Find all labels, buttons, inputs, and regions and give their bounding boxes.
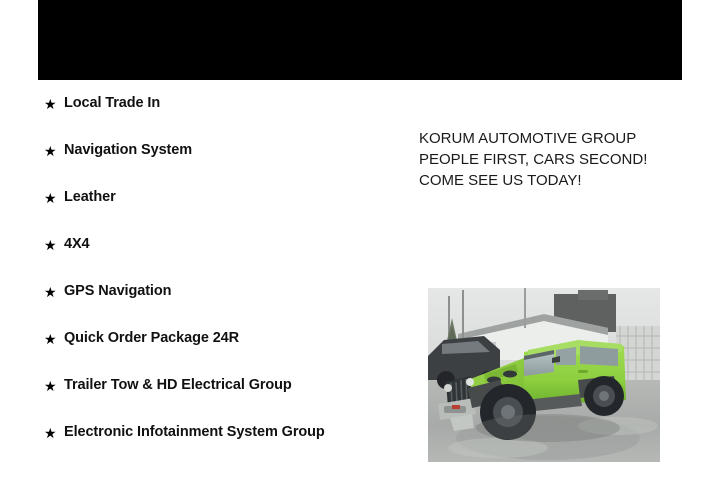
highlight-label: Navigation System xyxy=(64,139,389,161)
star-bullet-icon: ★ xyxy=(44,280,64,303)
list-item: ★ Electronic Infotainment System Group xyxy=(44,421,389,468)
list-item: ★ Quick Order Package 24R xyxy=(44,327,389,374)
dealer-promo-text: KORUM AUTOMOTIVE GROUP PEOPLE FIRST, CAR… xyxy=(419,128,669,191)
highlight-label: Quick Order Package 24R xyxy=(64,327,389,349)
header-banner: Vehicle Highlights xyxy=(38,0,682,80)
promo-line-dealer-name: KORUM AUTOMOTIVE GROUP xyxy=(419,128,669,149)
star-bullet-icon: ★ xyxy=(44,186,64,209)
highlight-label: GPS Navigation xyxy=(64,280,389,302)
highlight-label: Electronic Infotainment System Group xyxy=(64,421,389,443)
green-jeep-illustration xyxy=(428,288,660,462)
highlight-label: Trailer Tow & HD Electrical Group xyxy=(64,374,389,396)
list-item: ★ 4X4 xyxy=(44,233,389,280)
page-title: Vehicle Highlights xyxy=(297,31,423,49)
highlight-label: 4X4 xyxy=(64,233,389,255)
star-bullet-icon: ★ xyxy=(44,92,64,115)
star-bullet-icon: ★ xyxy=(44,233,64,256)
list-item: ★ GPS Navigation xyxy=(44,280,389,327)
list-item: ★ Local Trade In xyxy=(44,92,389,139)
promo-line-slogan: PEOPLE FIRST, CARS SECOND! xyxy=(419,149,669,170)
star-bullet-icon: ★ xyxy=(44,139,64,162)
list-item: ★ Navigation System xyxy=(44,139,389,186)
star-bullet-icon: ★ xyxy=(44,374,64,397)
highlight-label: Local Trade In xyxy=(64,92,389,114)
highlight-label: Leather xyxy=(64,186,389,208)
list-item: ★ Trailer Tow & HD Electrical Group xyxy=(44,374,389,421)
star-bullet-icon: ★ xyxy=(44,421,64,444)
vehicle-highlights-list: ★ Local Trade In ★ Navigation System ★ L… xyxy=(44,92,389,468)
vehicle-photo xyxy=(428,288,660,462)
star-bullet-icon: ★ xyxy=(44,327,64,350)
promo-line-call-to-action: COME SEE US TODAY! xyxy=(419,170,669,191)
list-item: ★ Leather xyxy=(44,186,389,233)
